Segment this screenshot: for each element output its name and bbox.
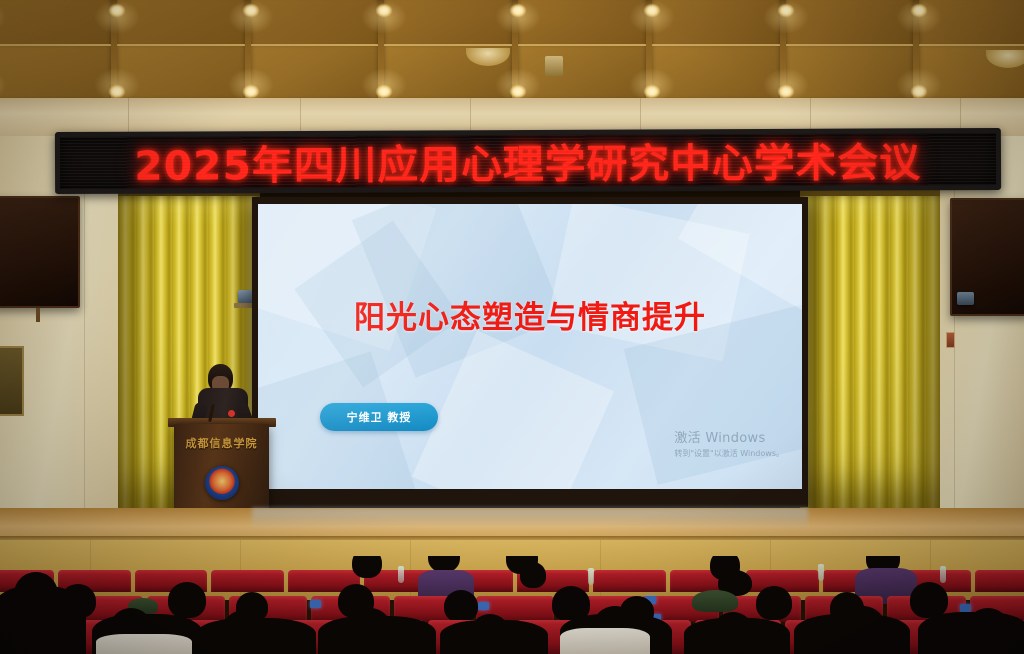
ceiling-light-icon <box>644 85 660 98</box>
seat <box>593 570 665 592</box>
audience-head <box>348 608 392 652</box>
audience-cap <box>692 590 738 612</box>
ceiling-light-icon <box>778 4 794 17</box>
ceiling-panel <box>786 0 914 50</box>
audience-head <box>14 572 58 616</box>
water-bottle <box>818 564 824 581</box>
watermark-title: 激活 Windows <box>674 427 784 446</box>
led-banner-text: 2025年四川应用心理学研究中心学术会议 <box>134 130 921 191</box>
ceiling-panel <box>919 0 1024 50</box>
audience-head <box>910 582 948 618</box>
audience-head <box>520 562 546 588</box>
ceiling-panel <box>117 0 245 50</box>
ceiling-light-icon <box>243 85 259 98</box>
ceiling-light-icon <box>243 4 259 17</box>
ceiling-panel <box>518 44 646 100</box>
led-banner: 2025年四川应用心理学研究中心学术会议 <box>55 128 1001 194</box>
podium-emblem-icon <box>205 466 239 500</box>
ceiling-panel <box>652 44 780 100</box>
audience-head <box>168 582 206 618</box>
seat <box>975 570 1024 592</box>
wall-framed-notice <box>0 346 24 416</box>
audience-head <box>222 610 266 652</box>
audience-head <box>444 590 478 622</box>
watermark-subtitle: 转到"设置"以激活 Windows。 <box>674 448 784 459</box>
stage-curtain-right <box>800 196 940 508</box>
ceiling-panel <box>117 44 245 100</box>
podium-inscription: 成都信息学院 <box>174 435 269 451</box>
ceiling-panel <box>0 0 111 50</box>
left-wall <box>0 136 118 536</box>
stage-floor-reflection <box>252 508 808 530</box>
monitor-mount <box>36 308 40 322</box>
projection-screen-frame: 阳光心态塑造与情商提升 宁维卫 教授 激活 Windows 转到"设置"以激活 … <box>252 197 808 507</box>
wall-monitor-left <box>0 196 80 308</box>
ceiling-panel <box>384 0 512 50</box>
ceiling-panel-row-front <box>0 0 1024 50</box>
ceiling-panel <box>652 0 780 50</box>
ceiling-light-icon <box>109 85 125 98</box>
ceiling-panel <box>0 44 111 100</box>
audience-light-coat <box>560 628 650 654</box>
seat <box>211 570 283 592</box>
ceiling-panel <box>251 0 379 50</box>
audience-light-coat <box>96 634 192 654</box>
audience-head <box>712 612 754 654</box>
ceiling-panel <box>251 44 379 100</box>
ceiling-light-icon <box>778 85 794 98</box>
slide-speaker-badge: 宁维卫 教授 <box>320 403 438 431</box>
phone-screen <box>960 604 971 612</box>
audience-head <box>352 556 382 578</box>
presenter-lapel-badge <box>228 410 235 417</box>
ceiling-panel <box>786 44 914 100</box>
ceiling-panel <box>518 0 646 50</box>
wall-speaker-icon <box>957 292 974 305</box>
phone-screen <box>310 600 321 608</box>
ceiling-panel-row-back <box>0 44 1024 100</box>
water-bottle <box>940 566 946 583</box>
water-bottle <box>398 566 404 583</box>
auditorium-photo: 2025年四川应用心理学研究中心学术会议 阳光心态塑造与情商提升 宁维卫 教授 … <box>0 0 1024 654</box>
wall-plate <box>946 332 955 348</box>
audience-head <box>840 606 886 652</box>
ceiling-light-icon <box>109 4 125 17</box>
projection-screen: 阳光心态塑造与情商提升 宁维卫 教授 激活 Windows 转到"设置"以激活 … <box>258 204 802 489</box>
audience-area <box>0 556 1024 654</box>
right-wall <box>940 136 1024 536</box>
audience-head <box>470 614 510 654</box>
windows-activation-watermark: 激活 Windows 转到"设置"以激活 Windows。 <box>674 427 784 459</box>
ceiling-projector-mount <box>545 56 563 76</box>
ceiling-light-icon <box>510 85 526 98</box>
phone-screen <box>478 602 489 610</box>
audience-head <box>966 608 1010 652</box>
ceiling-light-icon <box>644 4 660 17</box>
ceiling-light-icon <box>510 4 526 17</box>
water-bottle <box>588 568 594 585</box>
slide-title: 阳光心态塑造与情商提升 <box>258 292 802 337</box>
ceiling <box>0 0 1024 100</box>
audience-head <box>756 586 792 620</box>
